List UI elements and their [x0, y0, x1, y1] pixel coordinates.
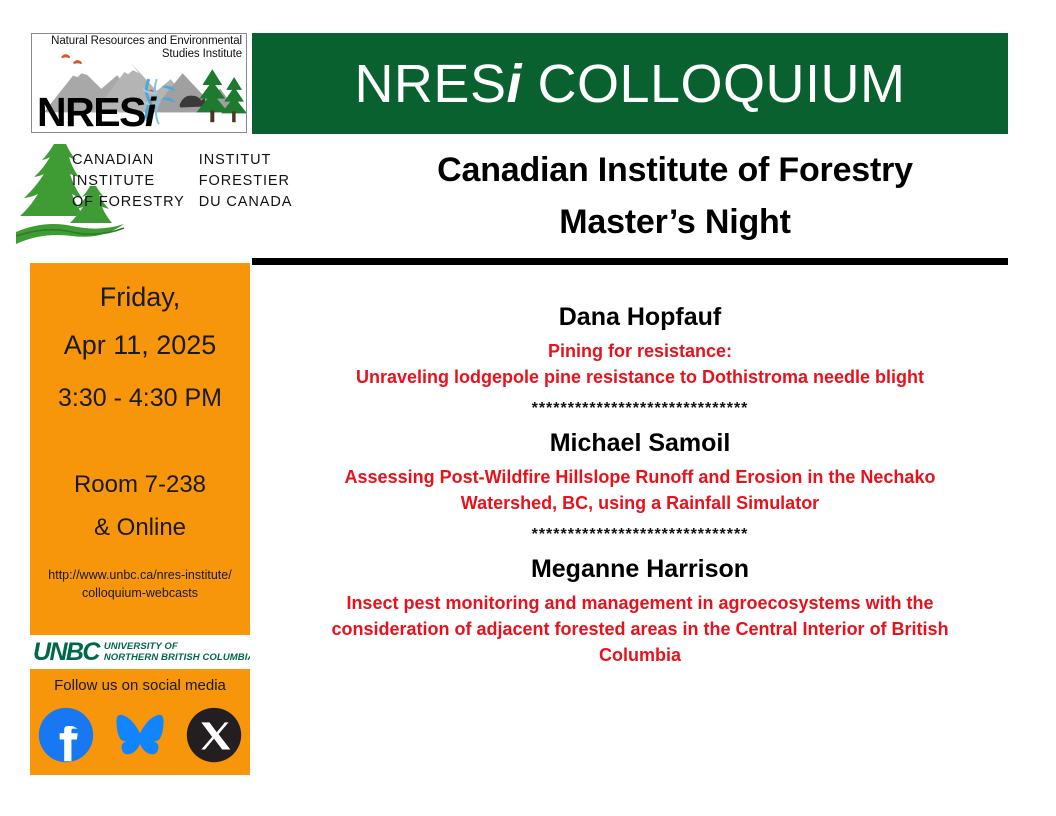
banner-title: NRESi COLLOQUIUM — [354, 57, 905, 111]
cif-text-french: INSTITUT FORESTIER DU CANADA — [199, 150, 293, 213]
header-divider-rule — [252, 258, 1008, 265]
bluesky-icon[interactable] — [111, 706, 169, 764]
nresi-wordmark-main: NRES — [37, 89, 145, 133]
speaker-name: Meganne Harrison — [262, 552, 1018, 586]
event-time: 3:30 - 4:30 PM — [30, 383, 250, 413]
event-room: Room 7-238 — [30, 463, 250, 506]
speaker-entry-1: Dana Hopfauf Pining for resistance: Unra… — [262, 300, 1018, 390]
event-day: Friday, — [30, 273, 250, 321]
speaker-topic-line-2: Watershed, BC, using a Rainfall Simulato… — [268, 490, 1012, 516]
unbc-subtitle: UNIVERSITY OF NORTHERN BRITISH COLUMBIA — [104, 641, 250, 663]
speaker-entry-2: Michael Samoil Assessing Post-Wildfire H… — [262, 426, 1018, 516]
event-title: Canadian Institute of Forestry Master’s … — [330, 144, 1020, 248]
event-details-panel: Friday, Apr 11, 2025 3:30 - 4:30 PM Room… — [30, 263, 250, 775]
banner-title-main: NRES — [354, 54, 506, 114]
cif-fr-line-3: DU CANADA — [199, 192, 293, 213]
speaker-topic-line-1: Insect pest monitoring and management in… — [268, 590, 1012, 616]
nresi-wordmark: NRESi — [37, 89, 155, 133]
event-mode: & Online — [30, 506, 250, 549]
speaker-list: Dana Hopfauf Pining for resistance: Unra… — [262, 300, 1018, 668]
cif-fr-line-1: INSTITUT — [199, 150, 293, 171]
x-twitter-icon[interactable] — [185, 706, 243, 764]
speaker-separator: ****************************** — [262, 526, 1018, 544]
colloquium-banner: NRESi COLLOQUIUM — [252, 33, 1008, 134]
speaker-topic-line-1: Pining for resistance: — [268, 338, 1012, 364]
event-title-line-1: Canadian Institute of Forestry — [330, 144, 1020, 196]
event-date: Apr 11, 2025 — [30, 321, 250, 369]
webcast-url-line-2: colloquium-webcasts — [30, 584, 250, 602]
speaker-separator: ****************************** — [262, 400, 1018, 418]
speaker-name: Michael Samoil — [262, 426, 1018, 460]
nresi-logo-caption: Natural Resources and Environmental Stud… — [42, 35, 242, 61]
event-title-line-2: Master’s Night — [330, 196, 1020, 248]
unbc-logo: UNBC UNIVERSITY OF NORTHERN BRITISH COLU… — [30, 635, 250, 669]
cif-fr-line-2: FORESTIER — [199, 171, 293, 192]
webcast-url-line-1: http://www.unbc.ca/nres-institute/ — [30, 566, 250, 584]
unbc-wordmark: UNBC — [33, 638, 99, 667]
cif-en-line-2: INSTITUTE — [72, 171, 185, 192]
speaker-topic-line-3: Columbia — [268, 642, 1012, 668]
webcast-url[interactable]: http://www.unbc.ca/nres-institute/ collo… — [30, 566, 250, 602]
cif-en-line-1: CANADIAN — [72, 150, 185, 171]
speaker-topic: Assessing Post-Wildfire Hillslope Runoff… — [262, 460, 1018, 516]
speaker-entry-3: Meganne Harrison Insect pest monitoring … — [262, 552, 1018, 668]
event-location-block: Room 7-238 & Online — [30, 463, 250, 549]
follow-us-label: Follow us on social media — [30, 677, 250, 694]
nresi-institute-logo: Natural Resources and Environmental Stud… — [31, 33, 247, 133]
banner-title-italic: i — [506, 54, 522, 114]
nresi-wordmark-italic: i — [145, 89, 155, 133]
speaker-topic-line-2: Unraveling lodgepole pine resistance to … — [268, 364, 1012, 390]
cif-logo-text: CANADIAN INSTITUTE OF FORESTRY INSTITUT … — [72, 150, 292, 213]
speaker-topic: Insect pest monitoring and management in… — [262, 586, 1018, 668]
speaker-name: Dana Hopfauf — [262, 300, 1018, 334]
speaker-topic-line-2: consideration of adjacent forested areas… — [268, 616, 1012, 642]
facebook-icon[interactable] — [37, 706, 95, 764]
unbc-subtitle-line-1: UNIVERSITY OF — [104, 641, 178, 652]
cif-en-line-3: OF FORESTRY — [72, 192, 185, 213]
banner-title-rest: COLLOQUIUM — [522, 54, 906, 114]
event-date-block: Friday, Apr 11, 2025 — [30, 273, 250, 369]
social-media-links — [30, 706, 250, 764]
speaker-topic: Pining for resistance: Unraveling lodgep… — [262, 334, 1018, 390]
speaker-topic-line-1: Assessing Post-Wildfire Hillslope Runoff… — [268, 464, 1012, 490]
cif-text-english: CANADIAN INSTITUTE OF FORESTRY — [72, 150, 185, 213]
cif-logo: CANADIAN INSTITUTE OF FORESTRY INSTITUT … — [10, 138, 320, 248]
unbc-subtitle-line-2: NORTHERN BRITISH COLUMBIA — [104, 652, 250, 663]
